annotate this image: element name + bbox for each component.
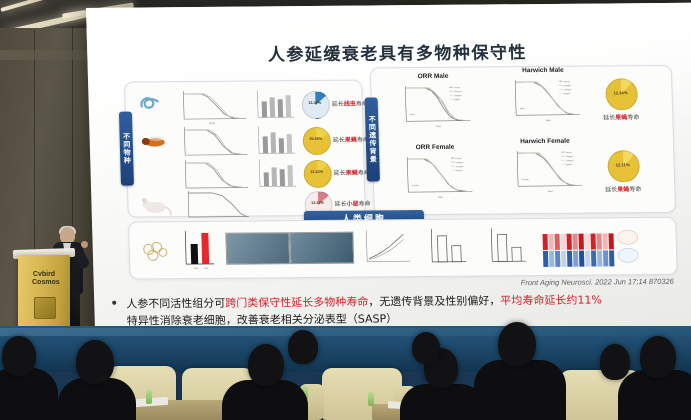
projection-screen: 人参延缓衰老具有多物种保守性 [86,3,691,338]
plot-area: Control 0.5mg/ml 1.0mg/ml 5mg/ml Days Fe… [507,148,586,195]
species-label: 延长小鼠寿命 [334,198,370,207]
plot-area: Control 0.5mg/ml 1.0mg/ml 5mg/ml Days Fe… [397,154,476,201]
svg-text:Ctrl: Ctrl [194,267,198,270]
audience-head [288,330,318,364]
pie-percent: 13.47% [302,101,328,105]
survival-curve-mini [174,187,253,226]
mouse-icon [138,190,173,220]
pie-percent: 12.11% [608,162,638,167]
bar-chart: Ctrl Gin [177,228,218,272]
fruit-fly-icon [136,126,171,156]
audience-member [222,380,308,420]
svg-text:Days: Days [438,197,444,199]
pie-percent: 12.42% [304,170,330,174]
audience-head [76,340,114,384]
human-cells-panel: Ctrl Gin [128,217,678,280]
bar-chart-3 [481,225,530,269]
svg-text:5mg/ml: 5mg/ml [564,93,571,95]
slide-content: 人参延缓衰老具有多物种保守性 [86,3,691,338]
svg-text:Female: Female [412,185,420,187]
species-panel-tab: 不同物种 [119,112,134,186]
svg-text:5mg/ml: 5mg/ml [566,164,573,166]
svg-text:1.0mg/ml: 1.0mg/ml [456,166,464,168]
survival-curve-mini: Days [171,87,250,126]
speaker-right-hand [81,241,88,248]
chart-title: Harwich Female [497,138,593,146]
water-bottle [368,392,374,406]
pie-percent: 15.65% [303,137,329,141]
chart-orr-female: ORR Female Control 0.5mg/ml 1.0mg/ml [387,144,485,205]
svg-text:1.0mg/ml: 1.0mg/ml [565,160,573,162]
svg-text:0.5mg/ml: 0.5mg/ml [565,156,573,158]
svg-text:Days: Days [436,126,442,128]
chart-title: ORR Female [387,144,483,152]
chart-orr-male: ORR Male Control 0.5mg/ml 1.0mg/ml [385,73,483,134]
svg-text:1.0mg/ml: 1.0mg/ml [563,89,571,91]
svg-text:Control: Control [563,80,570,83]
svg-text:Control: Control [455,157,462,160]
c-elegans-icon [135,90,170,120]
micrograph-treated [289,232,354,265]
podium-logo: Cvbird Cosmos [32,271,56,287]
audience-member [58,378,136,420]
chart-harwich-female: Harwich Female Control 0.5mg/ml 1.0mg/ [497,138,595,199]
pie-label: 延长果蝇寿命 [589,112,653,122]
svg-text:0.5mg/ml: 0.5mg/ml [455,162,463,164]
species-label: 延长果蝇寿命 [333,135,369,144]
svg-text:Female: Female [522,179,530,181]
species-panel: Days 13.47% [124,80,366,218]
svg-text:5mg/ml: 5mg/ml [454,99,461,101]
bullet-dot-icon [112,301,116,305]
ginseng-icon [139,236,172,264]
summary-bullet: 人参不同活性组分可跨门类保守性延长多物种寿命，无遗传背景及性别偏好，平均寿命延长… [112,291,688,296]
audience-member [474,360,566,420]
svg-text:Male: Male [520,108,525,110]
citation: Front Aging Neurosci. 2022 Jun 17;14 870… [394,277,674,288]
rear-wall-highlight [0,328,691,336]
svg-text:Control: Control [565,151,572,154]
svg-text:Days: Days [548,191,554,193]
chart-title: Harwich Male [495,67,591,75]
species-label: 延长线虫寿命 [332,99,368,108]
audience-head [412,332,440,364]
chart-harwich-male: Harwich Male Control 0.5mg/ml 1.0mg/ml [495,67,593,128]
plot-area: Control 0.5mg/ml 1.0mg/ml 5mg/ml Days Ma… [505,77,584,124]
heatmap [541,223,642,270]
pie-percent: 13.32% [304,201,330,205]
svg-text:0.5mg/ml: 0.5mg/ml [453,91,461,93]
micrograph-control [225,232,290,265]
audience-head [600,344,630,380]
podium-emblem [34,297,56,319]
audience-head [2,336,36,376]
podium: Cvbird Cosmos [18,255,70,335]
svg-text:0.5mg/ml: 0.5mg/ml [563,85,571,87]
audience-head [248,344,284,386]
svg-text:Gin: Gin [204,268,208,270]
svg-text:Control: Control [453,86,460,89]
bullet-line-1: 人参不同活性组分可跨门类保守性延长多物种寿命，无遗传背景及性别偏好，平均寿命延长… [126,291,602,311]
bar-chart-mini [251,87,298,123]
species-label: 延长果蝇寿命 [334,168,370,177]
svg-text:Male: Male [410,114,415,116]
svg-text:5mg/ml: 5mg/ml [456,170,463,172]
genetic-background-panel: ORR Male Control 0.5mg/ml 1.0mg/ml [370,65,676,216]
svg-text:1.0mg/ml: 1.0mg/ml [454,95,462,97]
audience-head [640,336,676,378]
growth-curve [357,227,414,269]
bar-chart-2 [421,226,470,270]
audience-head [498,322,536,366]
svg-text:Days: Days [546,120,552,122]
water-bottle [146,390,152,404]
pie-label: 延长果蝇寿命 [591,184,655,194]
audience-member [0,368,58,420]
genetic-panel-tab: 不同遗传背景 [365,97,380,181]
plot-area: Control 0.5mg/ml 1.0mg/ml 5mg/ml Days Ma… [395,83,474,130]
pie-percent: 11.34% [606,90,636,95]
conference-presentation-photo: 人参延缓衰老具有多物种保守性 [0,0,691,420]
slide-title: 人参延缓衰老具有多物种保守性 [207,38,588,66]
chart-title: ORR Male [385,73,481,81]
